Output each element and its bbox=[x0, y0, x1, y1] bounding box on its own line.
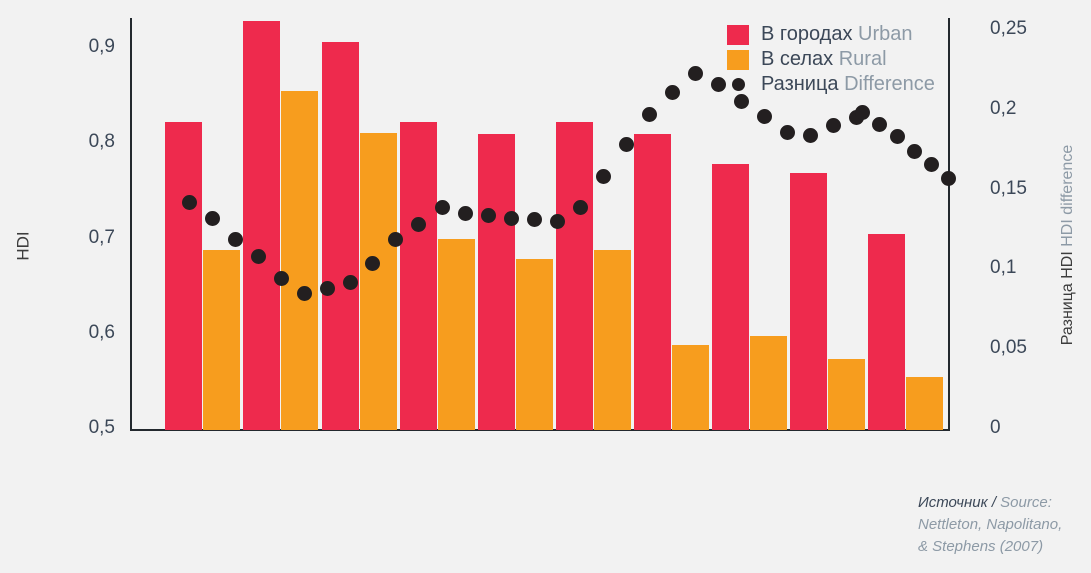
difference-dot bbox=[619, 137, 634, 152]
legend-swatch-icon bbox=[727, 50, 749, 70]
difference-dot bbox=[343, 275, 358, 290]
y-axis-right-label: Разница HDI HDI difference bbox=[1046, 170, 1090, 320]
legend-dot-shape bbox=[732, 78, 745, 91]
bar-rural bbox=[438, 239, 475, 431]
bar-rural bbox=[672, 345, 709, 430]
y-axis-right-tick: 0,25 bbox=[990, 18, 1060, 40]
bar-rural bbox=[360, 133, 397, 430]
chart-root: HDI 0,90,80,70,60,5 0,250,20,150,10,050 … bbox=[0, 0, 1091, 573]
y-axis-right-tick: 0,05 bbox=[990, 337, 1060, 359]
difference-dot bbox=[688, 66, 703, 81]
difference-dot bbox=[803, 128, 818, 143]
source-label-en: Source: bbox=[1000, 494, 1052, 511]
difference-dot bbox=[711, 77, 726, 92]
y-axis-right-tick: 0,2 bbox=[990, 98, 1060, 120]
y-axis-right-label-ru: Разница HDI bbox=[1059, 251, 1076, 345]
legend-swatch-icon bbox=[727, 25, 749, 45]
difference-dot bbox=[435, 200, 450, 215]
difference-dot bbox=[907, 144, 922, 159]
legend-item[interactable]: В городах Urban bbox=[727, 22, 977, 47]
bar-urban bbox=[478, 134, 515, 430]
difference-dot bbox=[872, 117, 887, 132]
legend-label-ru: В селах bbox=[761, 48, 839, 70]
difference-dot bbox=[504, 211, 519, 226]
y-axis-right-label-en: HDI difference bbox=[1059, 145, 1076, 247]
difference-dot bbox=[228, 232, 243, 247]
y-axis-left-tick: 0,5 bbox=[55, 417, 115, 439]
difference-dot bbox=[297, 286, 312, 301]
bar-urban bbox=[165, 122, 202, 430]
bar-rural bbox=[750, 336, 787, 430]
bar-urban bbox=[322, 42, 359, 430]
bar-urban bbox=[634, 134, 671, 430]
difference-dot bbox=[826, 118, 841, 133]
difference-dot bbox=[527, 212, 542, 227]
source-label-ru: Источник / bbox=[918, 494, 1000, 511]
difference-dot bbox=[780, 125, 795, 140]
source-line2: Nettleton, Napolitano, bbox=[918, 516, 1062, 533]
difference-dot bbox=[573, 200, 588, 215]
difference-dot bbox=[642, 107, 657, 122]
bar-urban bbox=[400, 122, 437, 430]
difference-dot bbox=[205, 211, 220, 226]
bar-rural bbox=[203, 250, 240, 430]
y-axis-left-label: HDI bbox=[4, 196, 44, 296]
bar-rural bbox=[828, 359, 865, 430]
y-axis-left-tick: 0,8 bbox=[55, 131, 115, 153]
legend-item[interactable]: В селах Rural bbox=[727, 47, 977, 72]
difference-dot bbox=[757, 109, 772, 124]
y-axis-left-tick: 0,9 bbox=[55, 36, 115, 58]
difference-dot bbox=[596, 169, 611, 184]
chart-legend: В городах UrbanВ селах RuralРазница Diff… bbox=[727, 22, 977, 97]
legend-label: Разница Difference bbox=[761, 73, 935, 96]
difference-dot bbox=[388, 232, 403, 247]
bar-rural bbox=[594, 250, 631, 430]
difference-dot bbox=[365, 256, 380, 271]
legend-dot-icon bbox=[727, 75, 749, 95]
source-line3: & Stephens (2007) bbox=[918, 538, 1043, 555]
legend-label-en: Difference bbox=[844, 73, 935, 95]
bar-rural bbox=[906, 377, 943, 430]
difference-dot bbox=[274, 271, 289, 286]
legend-label-ru: В городах bbox=[761, 23, 858, 45]
legend-label: В селах Rural bbox=[761, 48, 887, 71]
difference-dot bbox=[411, 217, 426, 232]
bar-urban bbox=[556, 122, 593, 430]
y-axis-right-tick: 0 bbox=[990, 417, 1060, 439]
legend-label: В городах Urban bbox=[761, 23, 913, 46]
source-citation: Источник / Source: Nettleton, Napolitano… bbox=[918, 492, 1088, 557]
difference-dot bbox=[550, 214, 565, 229]
legend-label-ru: Разница bbox=[761, 73, 844, 95]
bar-rural bbox=[516, 259, 553, 430]
bar-urban bbox=[712, 164, 749, 430]
bar-urban bbox=[243, 21, 280, 430]
y-axis-left-tick: 0,6 bbox=[55, 322, 115, 344]
difference-dot bbox=[320, 281, 335, 296]
difference-dot bbox=[941, 171, 956, 186]
bar-rural bbox=[281, 91, 318, 430]
difference-dot bbox=[251, 249, 266, 264]
difference-dot bbox=[665, 85, 680, 100]
bar-urban bbox=[790, 173, 827, 430]
difference-dot bbox=[855, 105, 870, 120]
legend-label-en: Urban bbox=[858, 23, 912, 45]
bar-urban bbox=[868, 234, 905, 430]
legend-item[interactable]: Разница Difference bbox=[727, 72, 977, 97]
legend-label-en: Rural bbox=[839, 48, 887, 70]
difference-dot bbox=[924, 157, 939, 172]
y-axis-left-label-text: HDI bbox=[14, 231, 34, 260]
difference-dot bbox=[182, 195, 197, 210]
difference-dot bbox=[890, 129, 905, 144]
difference-dot bbox=[458, 206, 473, 221]
y-axis-left-tick: 0,7 bbox=[55, 227, 115, 249]
difference-dot bbox=[481, 208, 496, 223]
